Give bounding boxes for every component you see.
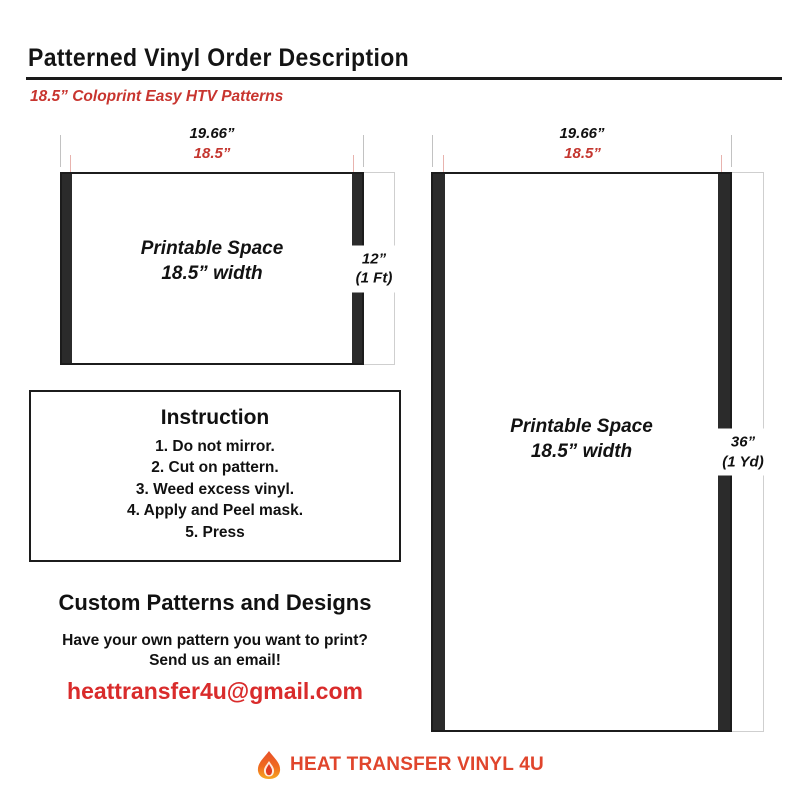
dimension-inner-width-label-right: 18.5” [444,145,721,162]
sheet-label-line2-12: 18.5” width [62,261,362,286]
instruction-list: 1. Do not mirror. 2. Cut on pattern. 3. … [31,436,399,543]
custom-patterns-line1: Have your own pattern you want to print? [0,632,430,650]
dimension-inner-width-left: 18.5” [70,155,354,172]
dimension-height-label-right: 36” (1 Yd) [715,429,771,476]
page-subtitle: 18.5” Coloprint Easy HTV Patterns [30,88,283,106]
title-divider [26,77,782,80]
instruction-step: 2. Cut on pattern. [31,457,399,478]
dimension-outer-width-label-left: 19.66” [61,125,363,142]
dimension-height-secondary-right: (1 Yd) [715,452,771,472]
custom-patterns-heading: Custom Patterns and Designs [0,590,430,616]
page-title: Patterned Vinyl Order Description [28,44,409,73]
dimension-inner-width-right: 18.5” [443,155,722,172]
dimension-height-label-left: 12” (1 Ft) [346,245,402,292]
sheet-label-12: Printable Space 18.5” width [62,236,362,287]
instruction-step: 4. Apply and Peel mask. [31,500,399,521]
instruction-heading: Instruction [31,406,399,430]
sheet-label-line1-12: Printable Space [62,236,362,261]
dimension-height-left: 12” (1 Ft) [364,172,395,365]
dimension-height-secondary-left: (1 Ft) [346,269,402,289]
footer-logo: HEAT TRANSFER VINYL 4U [0,750,800,780]
dimension-inner-width-label-left: 18.5” [71,145,353,162]
contact-email-link[interactable]: heattransfer4u@gmail.com [0,678,430,705]
dimension-outer-width-label-right: 19.66” [433,125,731,142]
instruction-box: Instruction 1. Do not mirror. 2. Cut on … [29,390,401,562]
dimension-height-primary-left: 12” [346,249,402,269]
sheet-12-inch: Printable Space 18.5” width [60,172,364,365]
instruction-step: 1. Do not mirror. [31,436,399,457]
sheet-label-36: Printable Space 18.5” width [433,414,730,465]
dimension-height-primary-right: 36” [715,433,771,453]
sheet-label-line2-36: 18.5” width [433,439,730,464]
flame-icon [256,750,282,780]
dimension-height-right: 36” (1 Yd) [732,172,764,732]
instruction-step: 3. Weed excess vinyl. [31,479,399,500]
sheet-36-inch: Printable Space 18.5” width [431,172,732,732]
footer-logo-text: HEAT TRANSFER VINYL 4U [290,754,544,776]
sheet-label-line1-36: Printable Space [433,414,730,439]
custom-patterns-line2: Send us an email! [0,652,430,670]
instruction-step: 5. Press [31,522,399,543]
